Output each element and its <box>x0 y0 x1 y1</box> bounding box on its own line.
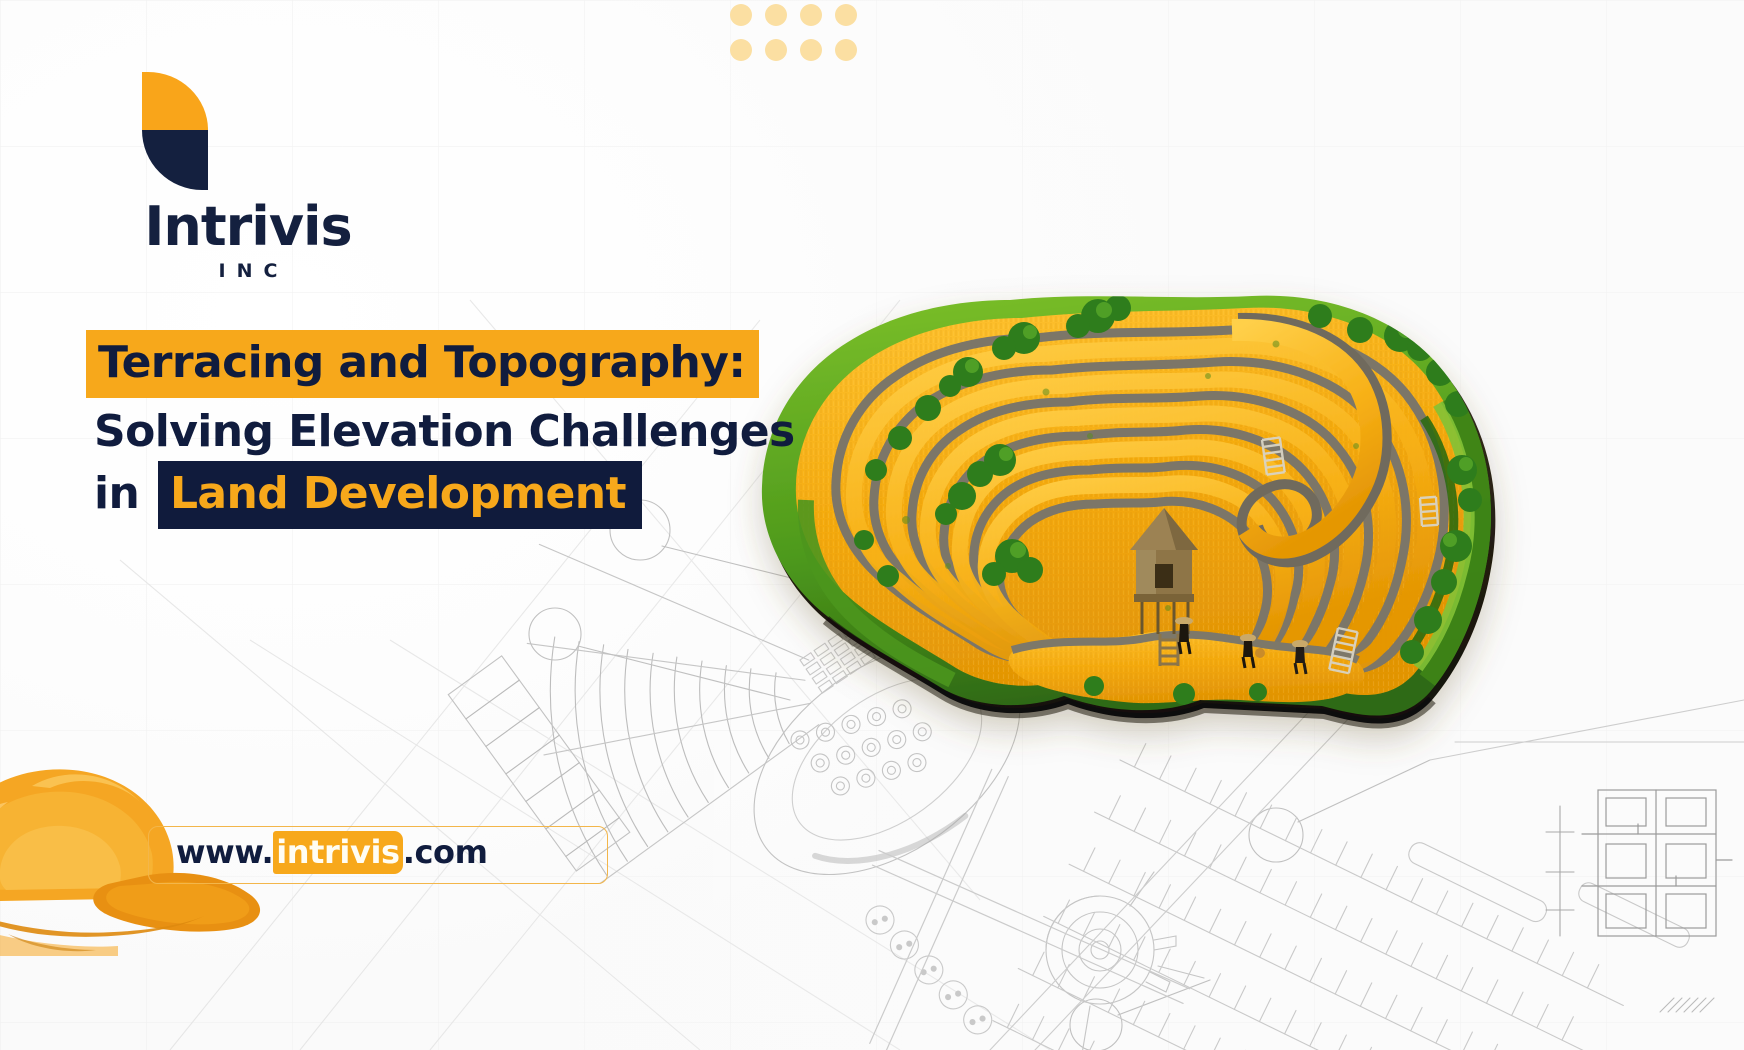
url-brand: intrivis <box>273 831 402 874</box>
dot <box>800 4 822 26</box>
logo-mark-bottom-navy <box>142 130 208 190</box>
dot-grid-icon <box>730 4 857 61</box>
website-url[interactable]: www.intrivis.com <box>176 833 488 871</box>
dot <box>765 39 787 61</box>
dot <box>730 39 752 61</box>
dot <box>730 4 752 26</box>
headline-line-1-highlight: Terracing and Topography: <box>86 330 759 398</box>
brand-logo[interactable]: Intrivis INC <box>98 72 398 282</box>
headline-line-3-prefix: in <box>94 468 154 519</box>
headline-line-2: Solving Elevation Challenges <box>86 408 846 456</box>
page-title: Terracing and Topography: Solving Elevat… <box>86 330 846 529</box>
logo-subtitle: INC <box>98 260 398 282</box>
url-prefix: www. <box>176 833 273 871</box>
banner-canvas: Intrivis INC Terracing and Topography: S… <box>0 0 1744 1050</box>
logo-mark-top-orange <box>142 72 208 130</box>
headline-line-1: Terracing and Topography: <box>86 330 846 398</box>
dot <box>800 39 822 61</box>
dot <box>765 4 787 26</box>
logo-wordmark: Intrivis <box>98 200 398 254</box>
url-suffix: .com <box>403 833 488 871</box>
dot <box>835 39 857 61</box>
intrivis-quarter-circle-mark-icon <box>142 72 212 190</box>
dot <box>835 4 857 26</box>
headline-line-3: in Land Development <box>86 461 846 529</box>
headline-line-3-highlight: Land Development <box>158 461 642 529</box>
